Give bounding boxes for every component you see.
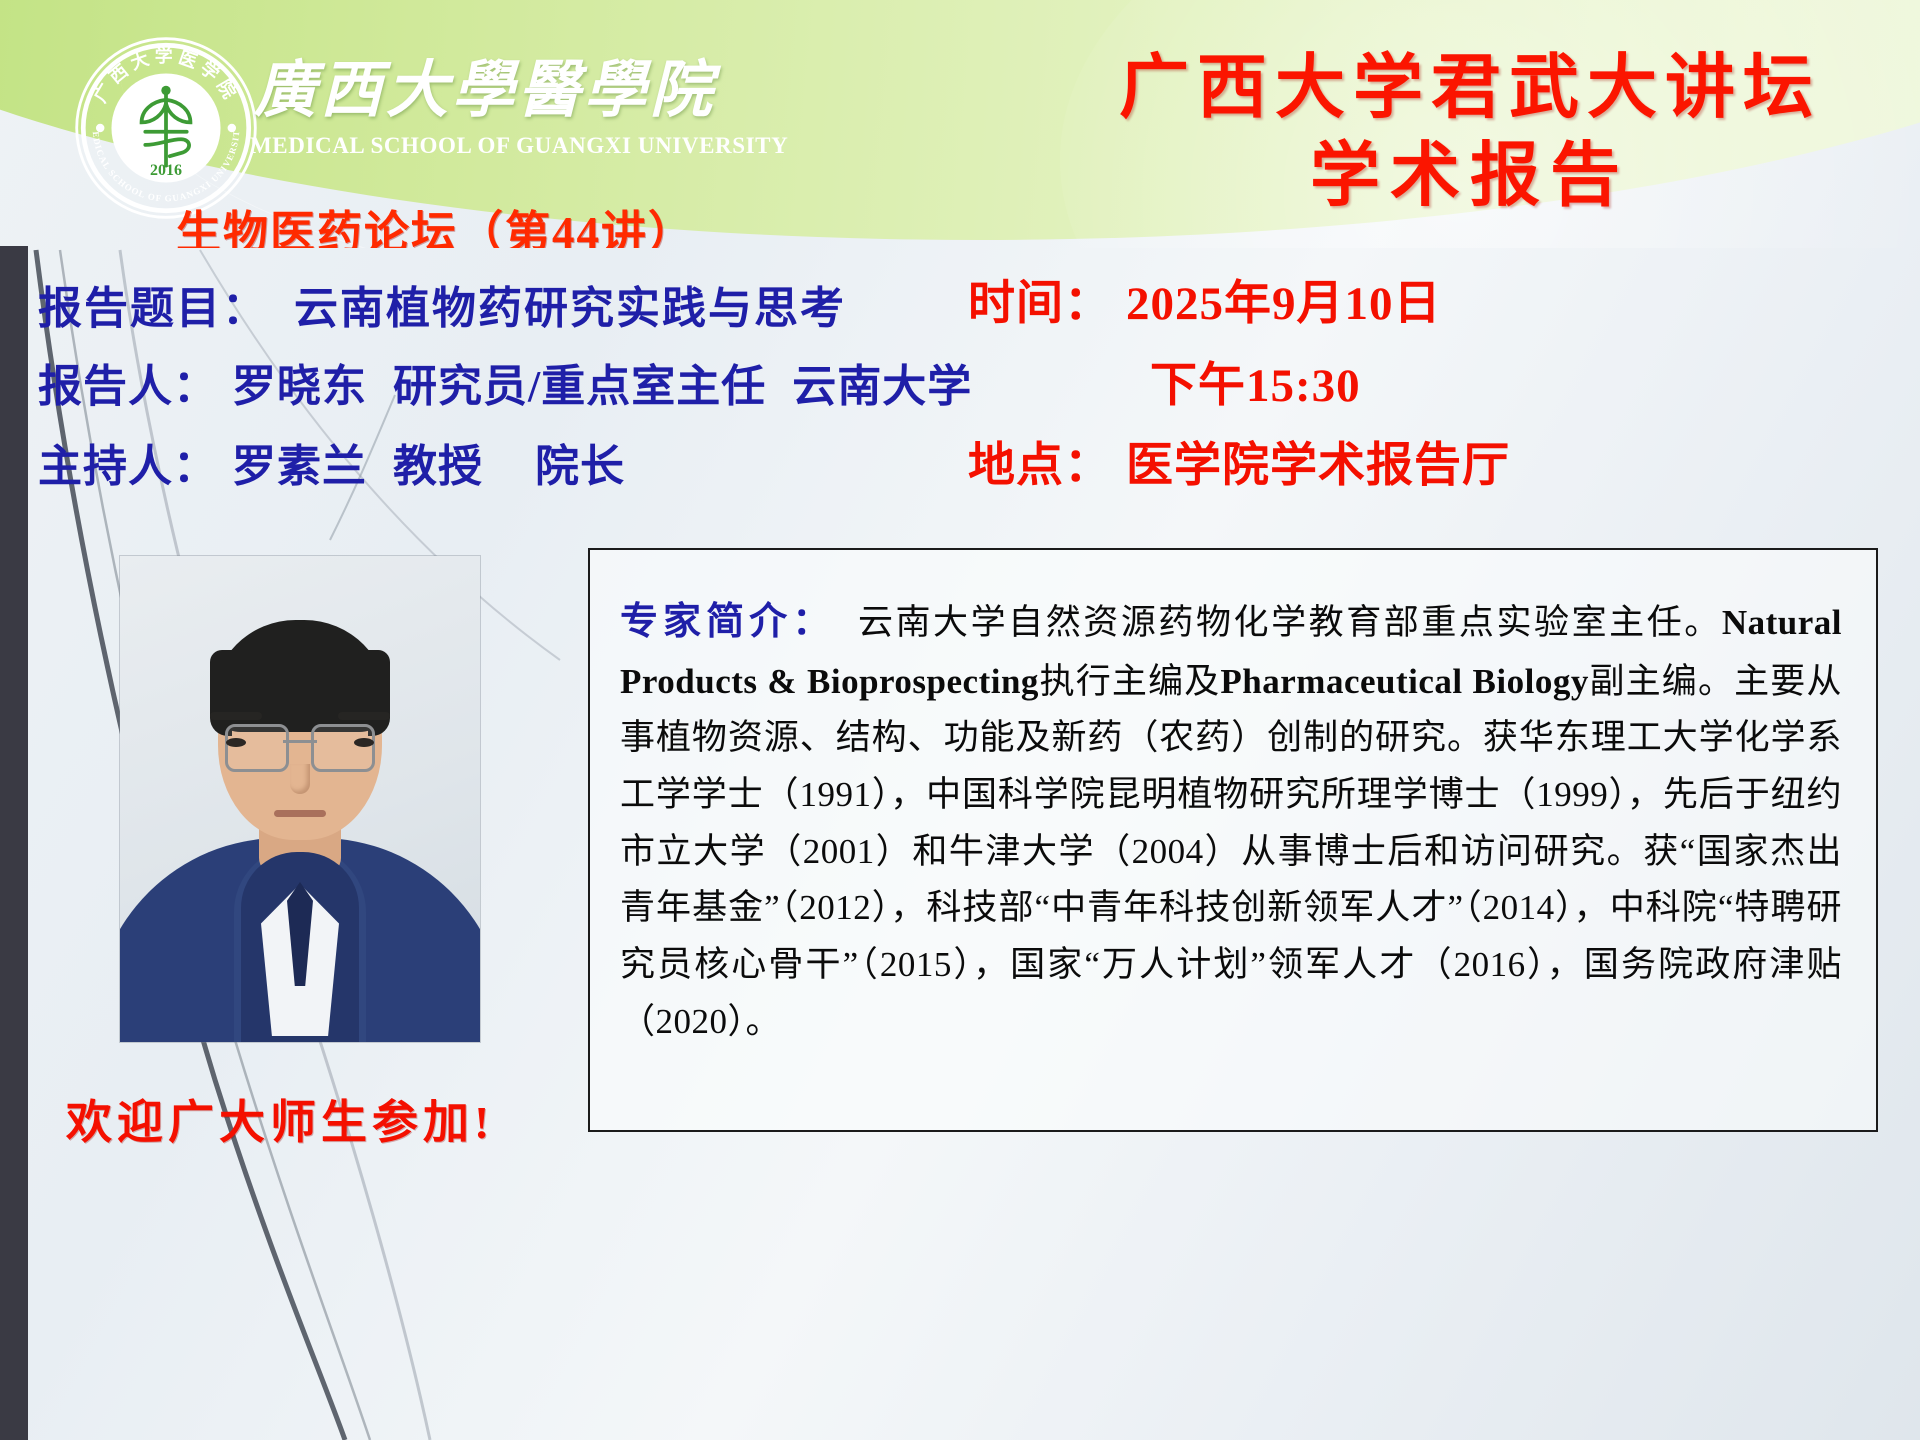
- school-name-cn: 廣西大學醫學院: [250, 56, 720, 127]
- biography-text: 专家简介： 云南大学自然资源药物化学教育部重点实验室主任。Natural Pro…: [620, 592, 1842, 1050]
- poster-header: 广西大学医学院 MEDICAL SCHOOL OF GUANGXI UNIVER…: [0, 0, 1920, 248]
- topic-row: 报告题目：云南植物药研究实践与思考: [38, 272, 846, 336]
- biography-part-3: 副主编。主要从事植物资源、结构、功能及新药（农药）创制的研究。获华东理工大学化学…: [620, 662, 1842, 1041]
- lecture-poster: 广西大学医学院 MEDICAL SCHOOL OF GUANGXI UNIVER…: [0, 0, 1920, 1440]
- glasses-lens-left: [225, 724, 289, 772]
- place-row: 地点：医学院学术报告厅: [968, 426, 1510, 495]
- time-row: 时间：2025年9月10日: [968, 264, 1442, 333]
- topic-label: 报告题目：: [38, 284, 268, 333]
- biography-part-1: 云南大学自然资源药物化学教育部重点实验室主任。: [858, 603, 1722, 642]
- speaker-affiliation: 云南大学: [792, 362, 972, 411]
- speaker-portrait-photo: [120, 556, 480, 1042]
- host-title: 教授: [393, 442, 483, 491]
- host-label: 主持人：: [38, 442, 218, 491]
- speaker-title: 研究员/重点室主任: [393, 362, 766, 411]
- speaker-row: 报告人：罗晓东研究员/重点室主任云南大学: [38, 350, 972, 414]
- glasses-bridge: [283, 740, 317, 743]
- place-value: 医学院学术报告厅: [1126, 440, 1510, 492]
- time-label: 时间：: [968, 278, 1112, 330]
- school-name-en: MEDICAL SCHOOL OF GUANGXI UNIVERSITY: [250, 133, 720, 159]
- speaker-name: 罗晓东: [232, 362, 367, 411]
- portrait-mouth: [274, 810, 326, 817]
- portrait-eyebrow-right: [338, 712, 390, 720]
- speaker-biography-box: 专家简介： 云南大学自然资源药物化学教育部重点实验室主任。Natural Pro…: [588, 548, 1878, 1132]
- biography-label: 专家简介：: [620, 601, 835, 643]
- time-clock-value: 下午15:30: [1150, 360, 1361, 412]
- poster-main-title: 广西大学君武大讲坛 学术报告: [1060, 52, 1880, 213]
- school-name-block: 廣西大學醫學院 MEDICAL SCHOOL OF GUANGXI UNIVER…: [250, 56, 720, 159]
- host-row: 主持人：罗素兰教授院长: [38, 430, 625, 494]
- portrait-eyebrow-left: [210, 712, 262, 720]
- portrait-eye-right: [354, 738, 374, 747]
- school-emblem-icon: 广西大学医学院 MEDICAL SCHOOL OF GUANGXI UNIVER…: [72, 34, 260, 222]
- time-clock-row: 下午15:30: [1150, 346, 1361, 415]
- svg-text:2016: 2016: [150, 162, 182, 179]
- main-title-line-2: 学术报告: [1060, 140, 1880, 214]
- lecture-info-block: 报告题目：云南植物药研究实践与思考 时间：2025年9月10日 报告人：罗晓东研…: [0, 250, 1920, 540]
- portrait-glasses: [225, 724, 375, 768]
- portrait-nose: [290, 764, 310, 794]
- biography-part-2: 执行主编及: [1039, 662, 1220, 701]
- glasses-lens-right: [311, 724, 375, 772]
- topic-value: 云南植物药研究实践与思考: [294, 284, 846, 333]
- main-title-line-1: 广西大学君武大讲坛: [1060, 52, 1880, 126]
- time-date-value: 2025年9月10日: [1126, 278, 1442, 330]
- biography-journal-2: Pharmaceutical Biology: [1220, 662, 1588, 701]
- portrait-eye-left: [226, 738, 246, 747]
- welcome-message: 欢迎广大师生参加!: [66, 1086, 494, 1152]
- speaker-label: 报告人：: [38, 362, 218, 411]
- forum-series-line: 生物医药论坛（第44讲）: [176, 196, 695, 248]
- host-position: 院长: [535, 442, 625, 491]
- host-name: 罗素兰: [232, 442, 367, 491]
- place-label: 地点：: [968, 440, 1112, 492]
